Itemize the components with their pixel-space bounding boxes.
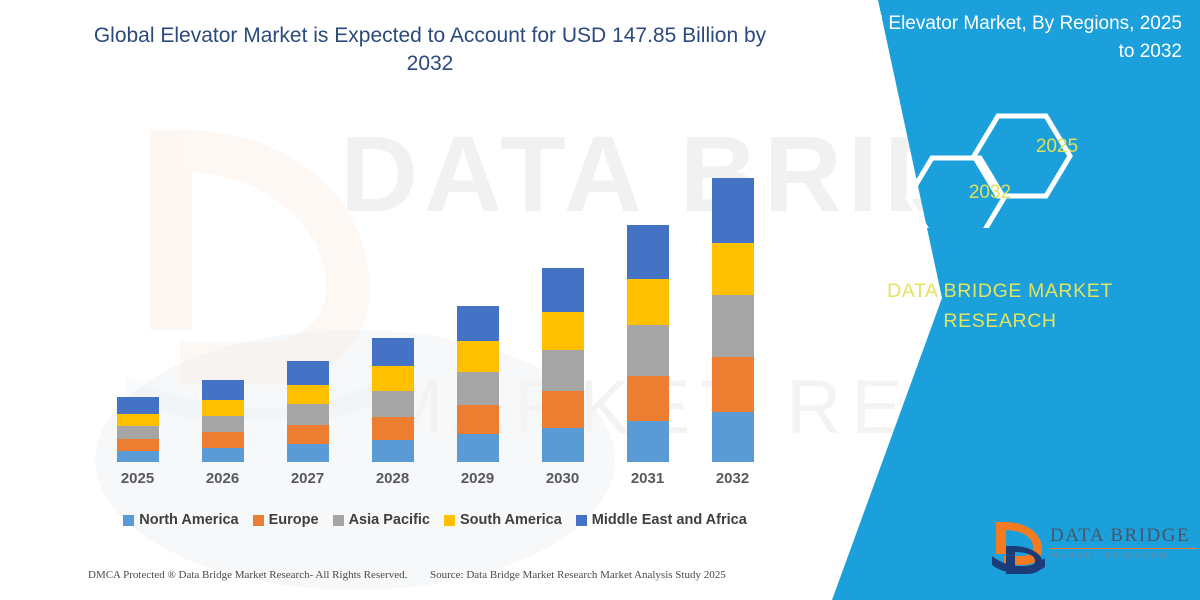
legend-item[interactable]: Middle East and Africa (576, 512, 747, 528)
brand-name-block: DATA BRIDGE MARKET RESEARCH (850, 276, 1150, 336)
stacked-bar-group (95, 152, 775, 462)
legend-label: South America (460, 512, 562, 528)
hexagon-group (760, 108, 1200, 228)
legend-swatch-icon (123, 515, 134, 526)
legend-swatch-icon (253, 515, 264, 526)
brand-panel: Global Elevator Market, By Regions, 2025… (760, 0, 1200, 600)
bar-segment[interactable] (117, 439, 159, 451)
legend-item[interactable]: South America (444, 512, 562, 528)
x-axis-tick-2028: 2028 (350, 470, 435, 487)
legend-label: North America (139, 512, 238, 528)
x-axis-tick-2025: 2025 (95, 470, 180, 487)
chart-panel: Global Elevator Market is Expected to Ac… (0, 0, 820, 600)
stacked-bar-2027[interactable] (287, 361, 329, 462)
bar-segment[interactable] (457, 372, 499, 405)
bar-segment[interactable] (627, 225, 669, 279)
legend-item[interactable]: Europe (253, 512, 319, 528)
bar-segment[interactable] (542, 268, 584, 312)
company-logo: DATA BRIDGE MARKET RESEARCH (990, 518, 1200, 580)
bar-segment[interactable] (372, 391, 414, 417)
bar-slot (605, 152, 690, 462)
stacked-bar-2026[interactable] (202, 380, 244, 462)
bar-slot (435, 152, 520, 462)
hexagon-2032-label: 2032 (945, 182, 1035, 204)
infographic-root: DATA BRIDGE MARKET RESEARCH Global Eleva… (0, 0, 1200, 600)
bar-segment[interactable] (372, 417, 414, 441)
bar-segment[interactable] (372, 366, 414, 391)
brand-name-line1: DATA BRIDGE MARKET (850, 276, 1150, 306)
bar-segment[interactable] (202, 380, 244, 400)
data-bridge-b-logo-icon (990, 520, 1046, 574)
x-axis-tick-2029: 2029 (435, 470, 520, 487)
bar-segment[interactable] (712, 243, 754, 295)
legend-label: Europe (269, 512, 319, 528)
chart-legend: North AmericaEuropeAsia PacificSouth Ame… (95, 512, 775, 528)
x-axis-tick-2026: 2026 (180, 470, 265, 487)
bar-segment[interactable] (627, 376, 669, 421)
stacked-bar-2029[interactable] (457, 306, 499, 462)
bar-segment[interactable] (117, 414, 159, 427)
x-axis-tick-2027: 2027 (265, 470, 350, 487)
bar-segment[interactable] (457, 434, 499, 462)
bar-segment[interactable] (457, 341, 499, 372)
bar-segment[interactable] (202, 416, 244, 433)
bar-segment[interactable] (117, 451, 159, 463)
bar-segment[interactable] (712, 357, 754, 412)
legend-label: Middle East and Africa (592, 512, 747, 528)
legend-item[interactable]: North America (123, 512, 238, 528)
bar-slot (350, 152, 435, 462)
bar-slot (520, 152, 605, 462)
stacked-bar-2030[interactable] (542, 268, 584, 462)
hexagon-2025-label: 2025 (1012, 136, 1102, 158)
legend-swatch-icon (333, 515, 344, 526)
brand-name-line2: RESEARCH (850, 306, 1150, 336)
bar-segment[interactable] (712, 295, 754, 357)
bar-segment[interactable] (287, 385, 329, 405)
bar-segment[interactable] (202, 400, 244, 416)
chart-plot-area (95, 140, 775, 462)
bar-segment[interactable] (457, 306, 499, 341)
bar-segment[interactable] (542, 428, 584, 462)
legend-swatch-icon (444, 515, 455, 526)
bar-segment[interactable] (202, 432, 244, 448)
bar-segment[interactable] (372, 338, 414, 366)
bar-segment[interactable] (117, 426, 159, 439)
stacked-bar-2025[interactable] (117, 397, 159, 462)
bar-segment[interactable] (712, 178, 754, 243)
footer-source: Source: Data Bridge Market Research Mark… (430, 569, 726, 581)
stacked-bar-2028[interactable] (372, 338, 414, 462)
bar-slot (180, 152, 265, 462)
bar-segment[interactable] (287, 425, 329, 444)
bar-segment[interactable] (542, 391, 584, 428)
logo-divider (1050, 548, 1198, 549)
bar-segment[interactable] (542, 312, 584, 350)
x-axis-tick-labels: 20252026202720282029203020312032 (95, 470, 775, 487)
bar-segment[interactable] (372, 440, 414, 462)
bar-segment[interactable] (202, 448, 244, 463)
legend-item[interactable]: Asia Pacific (333, 512, 430, 528)
bar-segment[interactable] (287, 444, 329, 462)
logo-wordmark: DATA BRIDGE (1050, 526, 1200, 545)
bar-segment[interactable] (457, 405, 499, 435)
x-axis-tick-2030: 2030 (520, 470, 605, 487)
brand-panel-title: Global Elevator Market, By Regions, 2025… (822, 10, 1182, 65)
bar-slot (95, 152, 180, 462)
legend-swatch-icon (576, 515, 587, 526)
chart-title: Global Elevator Market is Expected to Ac… (85, 22, 775, 79)
x-axis-tick-2031: 2031 (605, 470, 690, 487)
bar-segment[interactable] (627, 279, 669, 325)
footer-copyright: DMCA Protected ® Data Bridge Market Rese… (88, 569, 407, 581)
bar-segment[interactable] (627, 325, 669, 376)
bar-slot (265, 152, 350, 462)
bar-segment[interactable] (117, 397, 159, 414)
logo-tagline: MARKET RESEARCH (1050, 551, 1200, 560)
stacked-bar-2032[interactable] (712, 178, 754, 462)
bar-segment[interactable] (627, 421, 669, 462)
bar-segment[interactable] (712, 412, 754, 462)
bar-segment[interactable] (287, 361, 329, 385)
bar-segment[interactable] (542, 350, 584, 391)
stacked-bar-2031[interactable] (627, 225, 669, 462)
legend-label: Asia Pacific (349, 512, 430, 528)
bar-segment[interactable] (287, 404, 329, 425)
